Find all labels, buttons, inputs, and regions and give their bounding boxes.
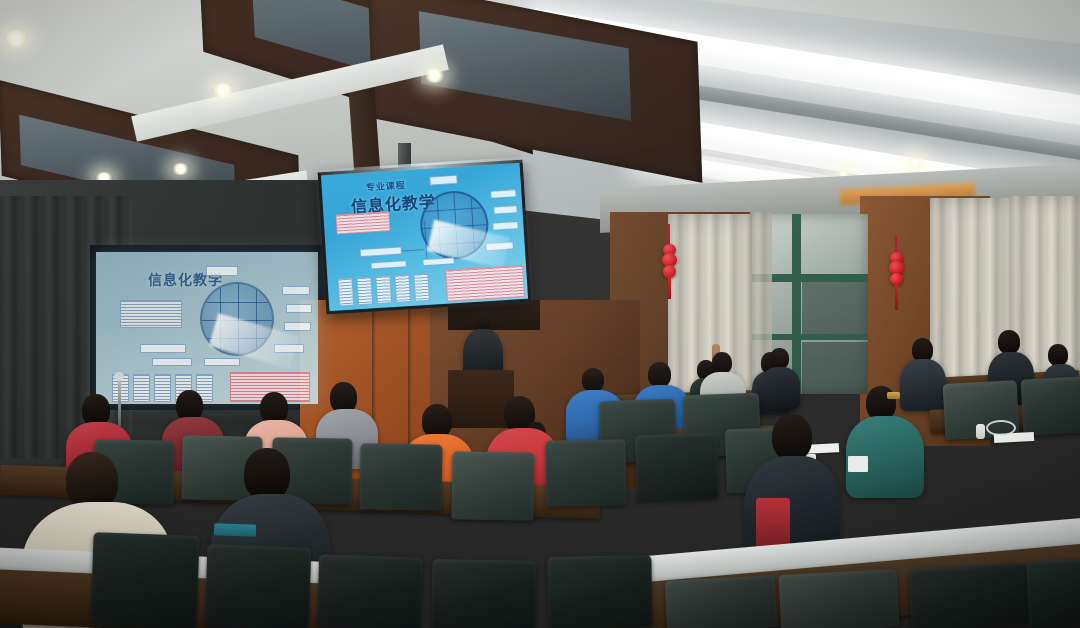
tv-display[interactable]: 专业课程 信息化教学 [318, 160, 532, 315]
seat [451, 451, 534, 520]
seat-foreground [665, 575, 778, 628]
seat-foreground [547, 555, 652, 628]
attendee-dark-back [760, 348, 800, 406]
seat [635, 433, 719, 502]
seat-foreground [908, 563, 1029, 628]
seat [1021, 376, 1080, 435]
lecture-hall-photo: 信息化教学 [0, 0, 1080, 628]
downlight-icon [4, 30, 28, 47]
downlight-icon [424, 68, 445, 83]
tv-notes-right [445, 265, 525, 302]
tv-callout-left [335, 211, 390, 234]
seat [359, 443, 442, 510]
downlight-icon [172, 163, 189, 175]
seat [545, 439, 626, 506]
seat-foreground [205, 544, 312, 628]
teal-folder [214, 523, 256, 536]
microphone-icon [114, 372, 124, 381]
seat-foreground [1026, 558, 1080, 628]
cable-loop [986, 420, 1016, 436]
seat-foreground [779, 569, 900, 628]
hair-clip [887, 392, 900, 399]
attendee-teal-top [846, 386, 924, 496]
seat-foreground [90, 532, 199, 628]
water-bottle [976, 424, 985, 439]
downlight-icon [906, 157, 924, 169]
seat-foreground [317, 554, 423, 628]
downlight-icon [212, 83, 234, 98]
projection-screen: 信息化教学 [96, 252, 318, 404]
projection-callout-left [120, 300, 182, 328]
seat-foreground [431, 559, 536, 628]
